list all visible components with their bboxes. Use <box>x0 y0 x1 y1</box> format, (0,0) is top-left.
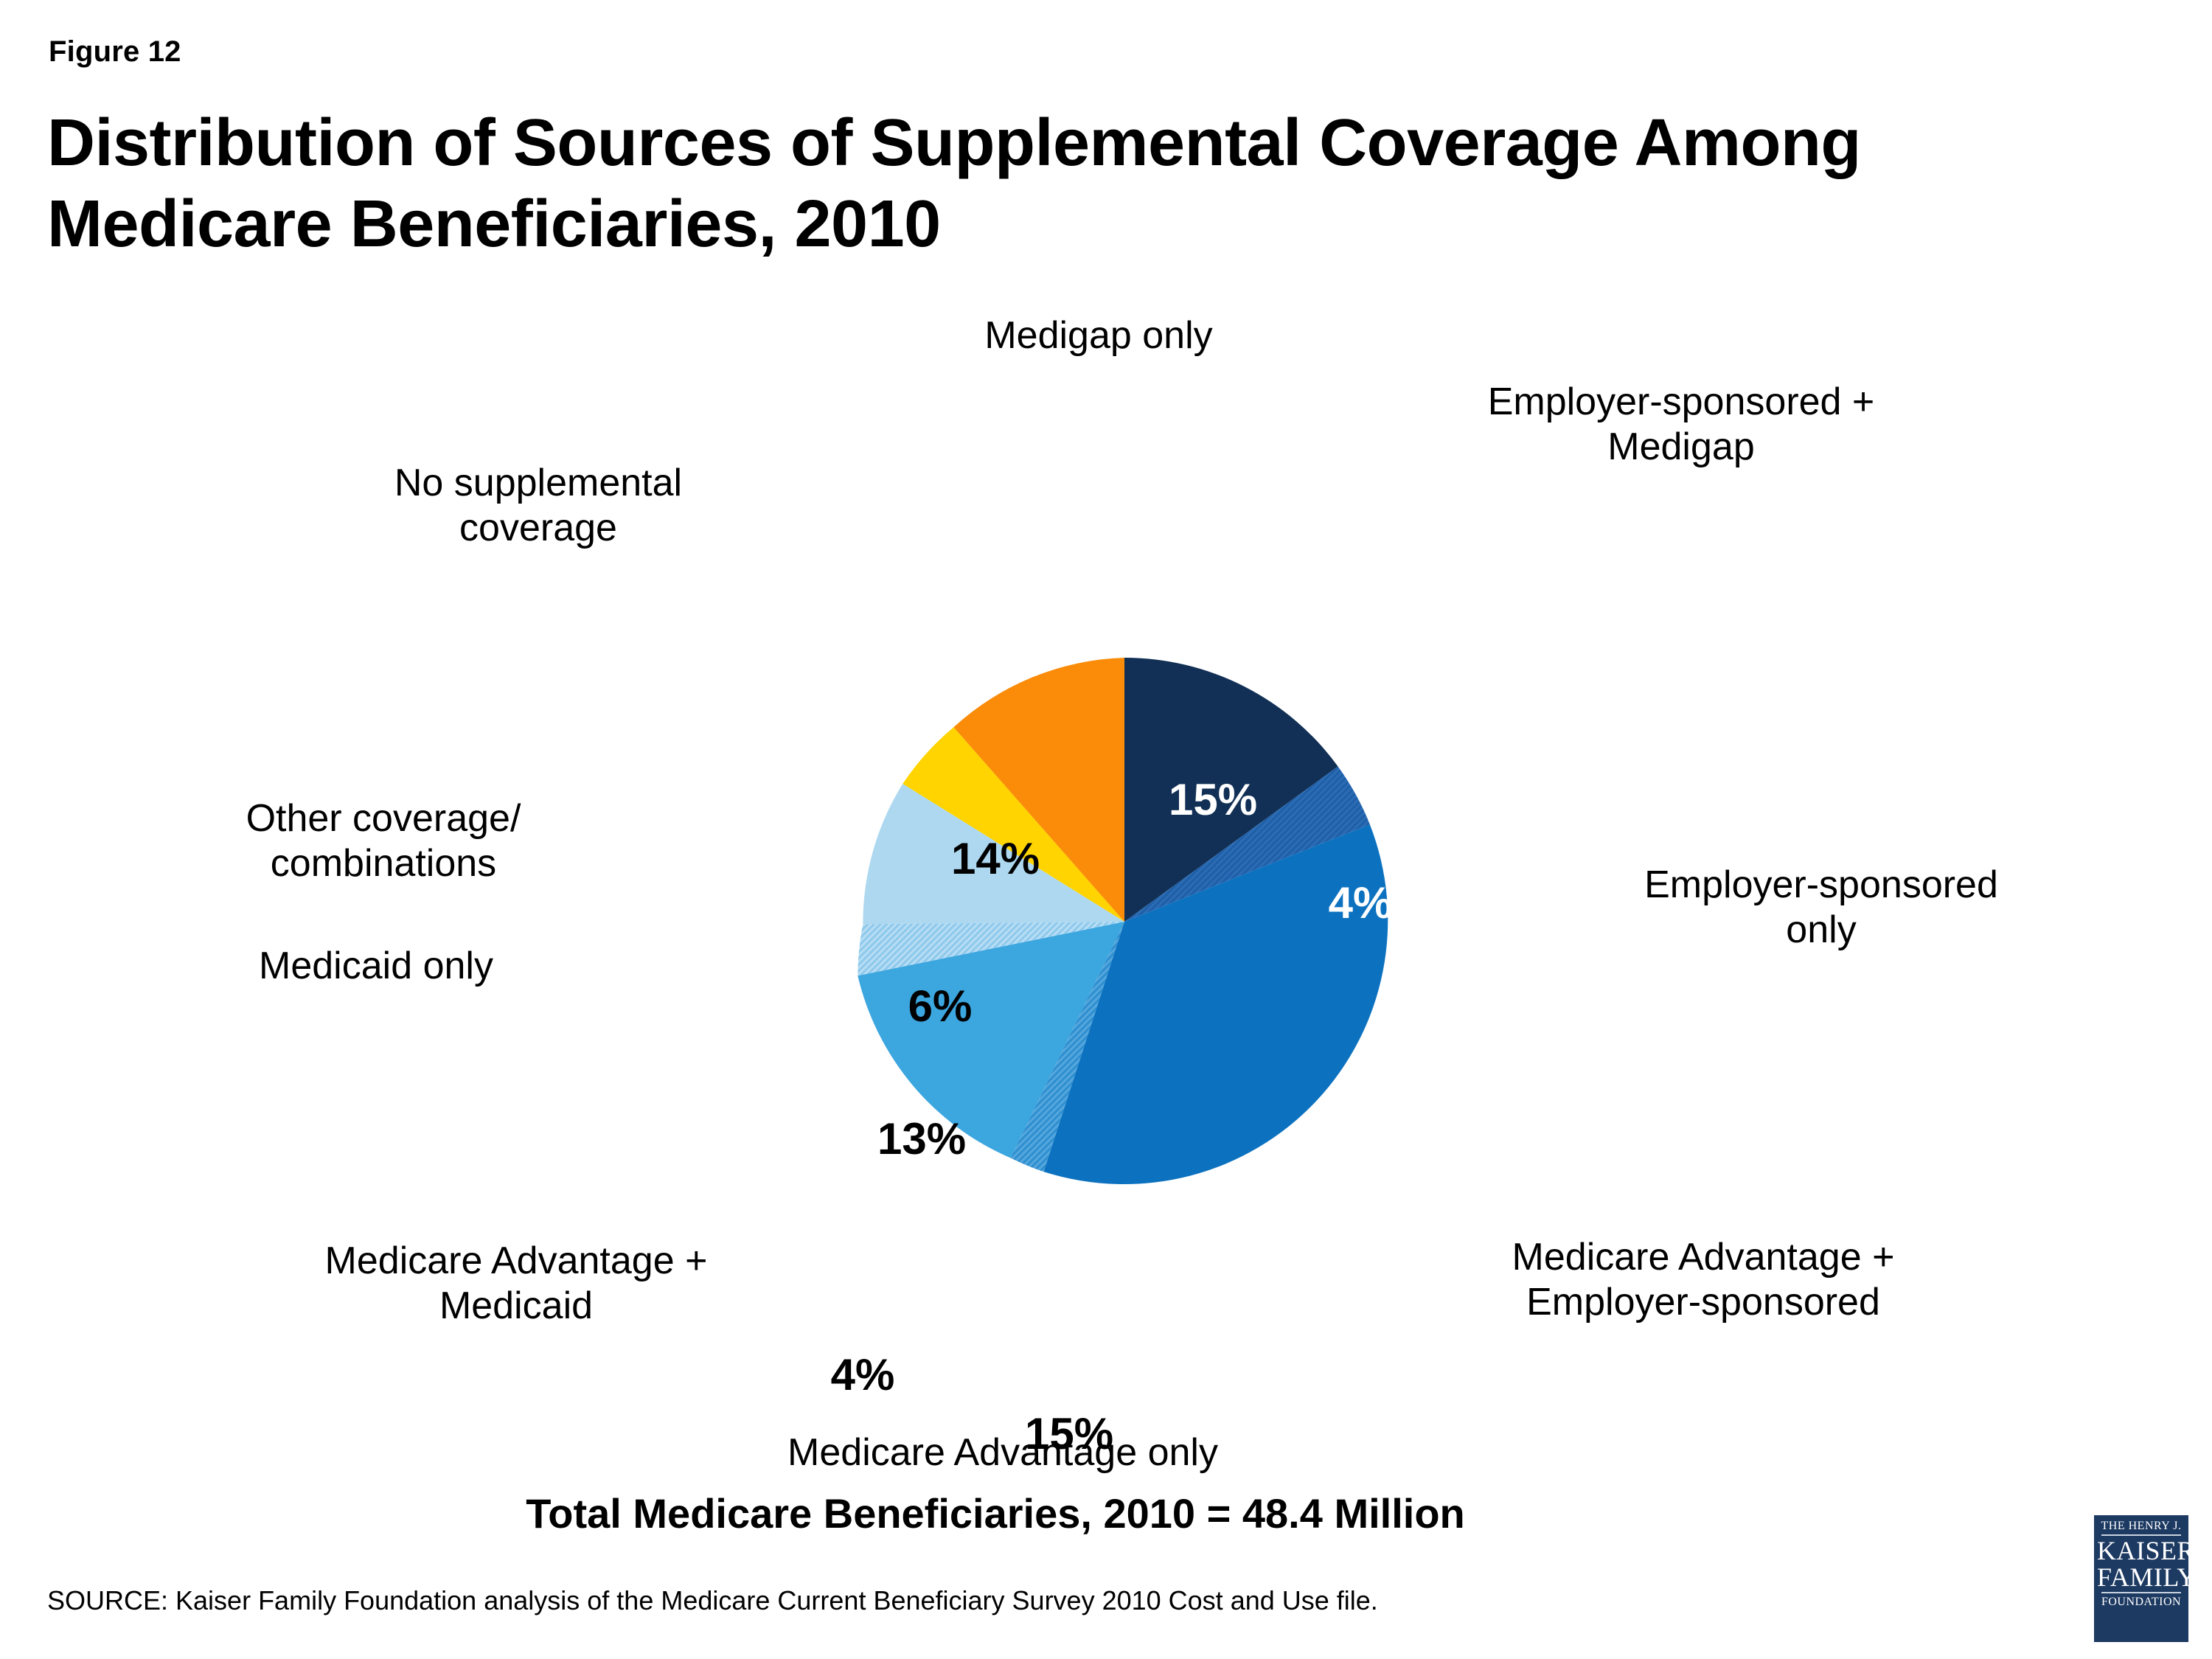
pie-label-other-coverage-line-1: Other coverage/ <box>147 796 619 841</box>
pie-label-other-coverage-combinations: Other coverage/ combinations <box>147 796 619 887</box>
page-title-line-1: Distribution of Sources of Supplemental … <box>47 103 2156 184</box>
pie-label-medicaid-only-line-1: Medicaid only <box>133 944 619 989</box>
pie-value-medicare-advantage-medicaid: 4% <box>807 1349 918 1400</box>
pie-value-medigap-only: 15% <box>1147 774 1279 825</box>
page-title: Distribution of Sources of Supplemental … <box>47 103 2156 265</box>
pie-label-employer-sponsored-medigap-line-1: Employer-sponsored + <box>1401 380 1961 425</box>
pie-label-medicare-advantage-medicaid-line-1: Medicare Advantage + <box>214 1239 818 1284</box>
pie-label-employer-sponsored-only-line-2: only <box>1563 908 2079 953</box>
pie-value-medicare-advantage-only: 15% <box>1003 1408 1135 1459</box>
pie-label-medicare-advantage-employer-sponsored: Medicare Advantage + Employer-sponsored <box>1401 1235 2006 1326</box>
pie-label-medicare-advantage-employer-sponsored-line-1: Medicare Advantage + <box>1401 1235 2006 1280</box>
logo-line-the-henry-j: THE HENRY J. <box>2097 1520 2185 1533</box>
figure-label: Figure 12 <box>49 35 181 69</box>
kaiser-family-foundation-logo: THE HENRY J. KAISER FAMILY FOUNDATION <box>2094 1515 2188 1642</box>
pie-label-other-coverage-line-2: combinations <box>147 841 619 886</box>
pie-label-medigap-only: Medigap only <box>841 313 1357 358</box>
pie-chart: Medigap only Employer-sponsored + Mediga… <box>0 317 2212 1467</box>
logo-divider-bottom <box>2101 1592 2181 1593</box>
pie-value-no-supplemental-coverage: 14% <box>929 833 1062 884</box>
pie-label-medicare-advantage-employer-sponsored-line-2: Employer-sponsored <box>1401 1280 2006 1325</box>
pie-value-medicaid-only: 13% <box>855 1113 988 1164</box>
total-beneficiaries-line: Total Medicare Beneficiaries, 2010 = 48.… <box>0 1489 1991 1537</box>
pie-label-employer-sponsored-only: Employer-sponsored only <box>1563 863 2079 953</box>
source-note: SOURCE: Kaiser Family Foundation analysi… <box>47 1585 1964 1616</box>
pie-label-employer-sponsored-medigap-line-2: Medigap <box>1401 425 1961 470</box>
pie-label-no-supplemental-coverage-line-1: No supplemental <box>302 461 774 506</box>
pie-value-medicare-advantage-employer-sponsored: 3% <box>1194 1371 1305 1422</box>
page-title-line-2: Medicare Beneficiaries, 2010 <box>47 184 2156 265</box>
logo-line-kaiser: KAISER <box>2097 1537 2185 1564</box>
pie-label-employer-sponsored-medigap: Employer-sponsored + Medigap <box>1401 380 1961 470</box>
pie-value-employer-sponsored-only: 26% <box>1397 1128 1545 1179</box>
pie-label-medigap-only-line-1: Medigap only <box>841 313 1357 358</box>
pie-label-medicaid-only: Medicaid only <box>133 944 619 989</box>
pie-label-medicare-advantage-medicaid-line-2: Medicaid <box>214 1284 818 1329</box>
pie-value-other-coverage-combinations: 6% <box>885 981 995 1032</box>
logo-line-foundation: FOUNDATION <box>2097 1595 2185 1609</box>
pie-label-no-supplemental-coverage: No supplemental coverage <box>302 461 774 552</box>
pie-value-employer-sponsored-medigap: 4% <box>1305 877 1416 928</box>
pie-label-employer-sponsored-only-line-1: Employer-sponsored <box>1563 863 2079 908</box>
logo-line-family: FAMILY <box>2097 1564 2185 1590</box>
pie-label-medicare-advantage-medicaid: Medicare Advantage + Medicaid <box>214 1239 818 1329</box>
pie-label-no-supplemental-coverage-line-2: coverage <box>302 506 774 551</box>
